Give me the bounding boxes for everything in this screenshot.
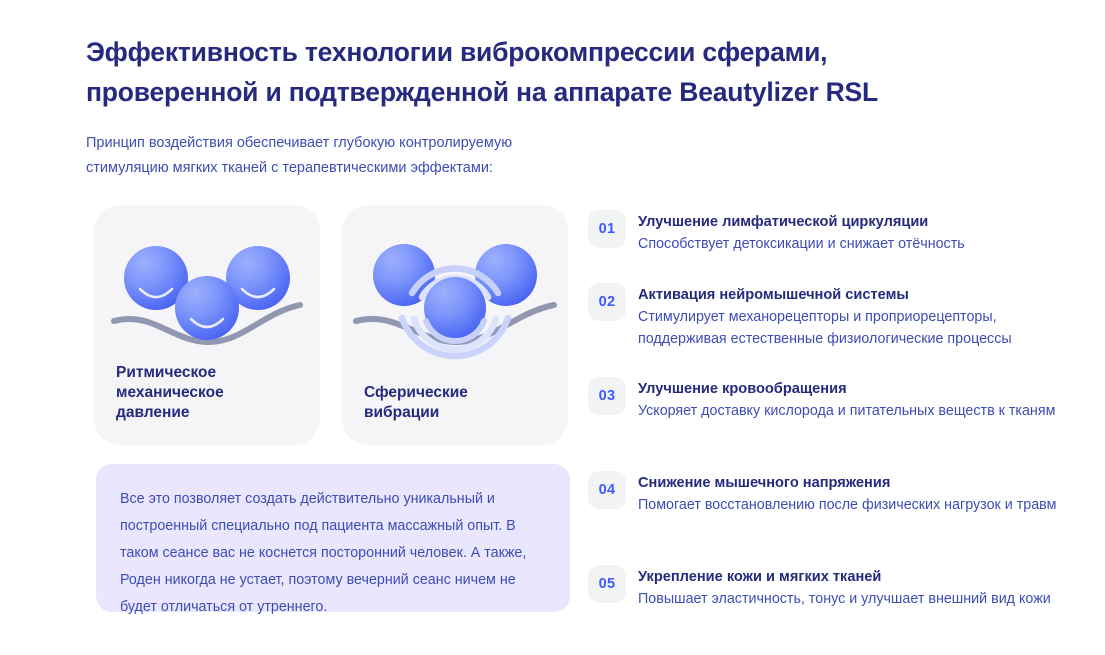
benefit-number-badge: 05 bbox=[588, 565, 626, 603]
benefit-description: Стимулирует механорецепторы и проприорец… bbox=[638, 306, 1058, 350]
feature-card-title-line-3: давление bbox=[116, 403, 224, 423]
page-title-line-1: Эффективность технологии виброкомпрессии… bbox=[86, 37, 827, 67]
intro-line-2: стимуляцию мягких тканей с терапевтическ… bbox=[86, 156, 606, 181]
benefit-body: Укрепление кожи и мягких тканей Повышает… bbox=[638, 565, 1058, 610]
benefit-title: Укрепление кожи и мягких тканей bbox=[638, 566, 1058, 588]
feature-card-title: Ритмическое механическое давление bbox=[116, 363, 224, 423]
page-root: Эффективность технологии виброкомпрессии… bbox=[0, 0, 1105, 655]
feature-card-title: Сферические вибрации bbox=[364, 383, 468, 423]
page-title: Эффективность технологии виброкомпрессии… bbox=[86, 32, 986, 112]
benefit-body: Активация нейромышечной системы Стимулир… bbox=[638, 283, 1058, 350]
intro-paragraph: Принцип воздействия обеспечивает глубоку… bbox=[86, 131, 606, 181]
benefit-item-03[interactable]: 03 Улучшение кровообращения Ускоряет дос… bbox=[588, 377, 1058, 422]
benefit-number-badge: 01 bbox=[588, 210, 626, 248]
benefit-number-badge: 03 bbox=[588, 377, 626, 415]
benefit-description: Ускоряет доставку кислорода и питательны… bbox=[638, 400, 1058, 422]
page-title-line-2: проверенной и подтвержденной на аппарате… bbox=[86, 72, 986, 112]
benefit-body: Улучшение лимфатической циркуляции Спосо… bbox=[638, 210, 1058, 255]
benefit-description: Помогает восстановлению после физических… bbox=[638, 494, 1058, 516]
feature-card-title-line-1: Ритмическое bbox=[116, 363, 224, 383]
summary-note-text: Все это позволяет создать действительно … bbox=[120, 486, 544, 621]
spheres-with-vibration-waves-icon bbox=[342, 213, 568, 373]
benefit-title: Снижение мышечного напряжения bbox=[638, 472, 1058, 494]
benefit-description: Повышает эластичность, тонус и улучшает … bbox=[638, 588, 1058, 610]
feature-card-list: Ритмическое механическое давление bbox=[94, 205, 568, 445]
benefit-number-badge: 04 bbox=[588, 471, 626, 509]
intro-line-1: Принцип воздействия обеспечивает глубоку… bbox=[86, 131, 606, 156]
benefit-item-02[interactable]: 02 Активация нейромышечной системы Стиму… bbox=[588, 283, 1058, 350]
benefit-item-05[interactable]: 05 Укрепление кожи и мягких тканей Повыш… bbox=[588, 565, 1058, 610]
feature-card-title-line-2: вибрации bbox=[364, 403, 468, 423]
benefit-title: Активация нейромышечной системы bbox=[638, 284, 1058, 306]
benefit-item-01[interactable]: 01 Улучшение лимфатической циркуляции Сп… bbox=[588, 210, 1058, 255]
summary-note-box: Все это позволяет создать действительно … bbox=[96, 464, 570, 612]
benefit-number-badge: 02 bbox=[588, 283, 626, 321]
feature-card-title-line-2: механическое bbox=[116, 383, 224, 403]
benefit-description: Способствует детоксикации и снижает отёч… bbox=[638, 233, 1058, 255]
benefit-title: Улучшение лимфатической циркуляции bbox=[638, 211, 1058, 233]
benefit-body: Снижение мышечного напряжения Помогает в… bbox=[638, 471, 1058, 516]
feature-card-rhythmic-pressure[interactable]: Ритмическое механическое давление bbox=[94, 205, 320, 445]
feature-card-spherical-vibrations[interactable]: Сферические вибрации bbox=[342, 205, 568, 445]
benefit-title: Улучшение кровообращения bbox=[638, 378, 1058, 400]
feature-card-title-line-1: Сферические bbox=[364, 383, 468, 403]
benefit-body: Улучшение кровообращения Ускоряет достав… bbox=[638, 377, 1058, 422]
benefit-item-04[interactable]: 04 Снижение мышечного напряжения Помогае… bbox=[588, 471, 1058, 516]
three-spheres-on-wave-icon bbox=[94, 213, 320, 373]
